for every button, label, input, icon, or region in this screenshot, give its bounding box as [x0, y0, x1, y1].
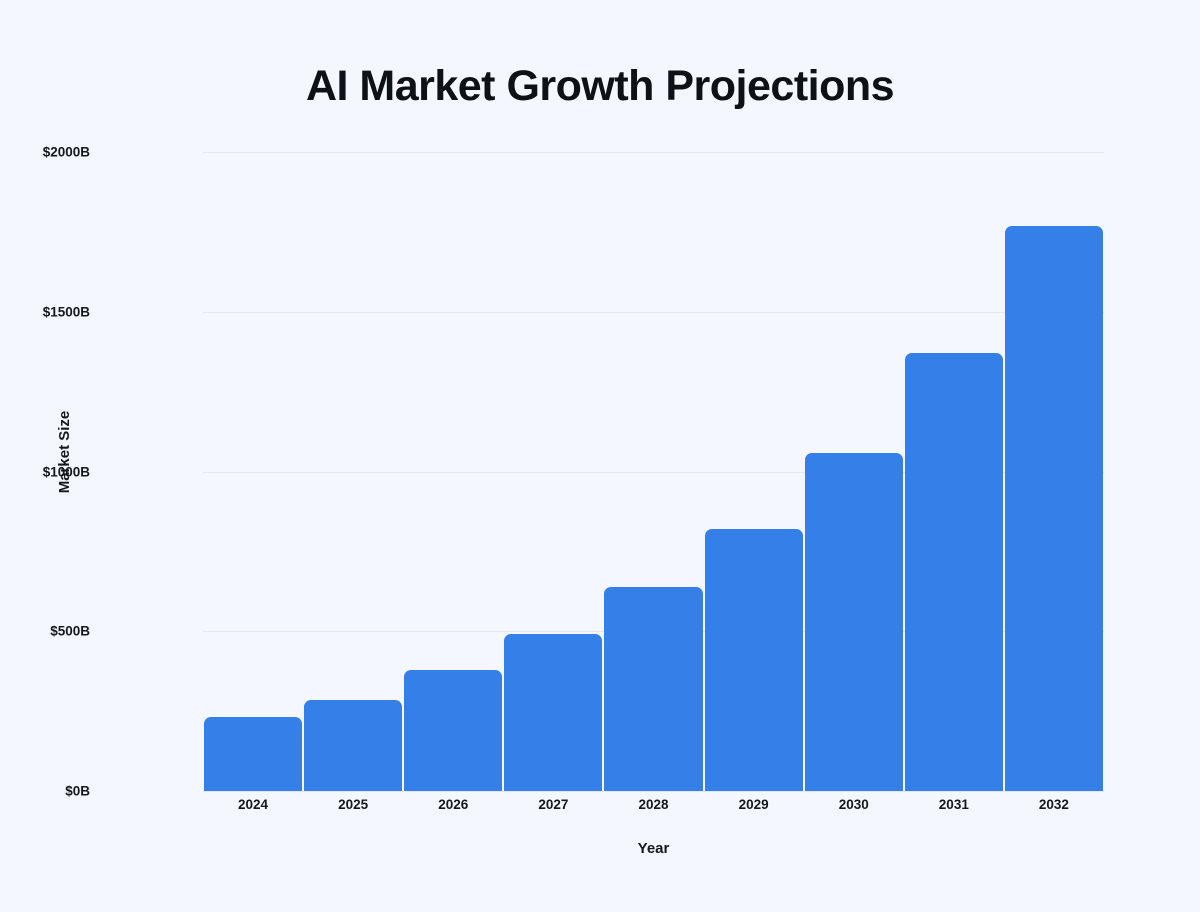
- bars-layer: 202420252026202720282029203020312032: [203, 152, 1104, 791]
- bar-group: 2025: [303, 152, 403, 791]
- x-axis-tick-label: 2031: [904, 797, 1004, 812]
- x-axis-tick-label: 2028: [603, 797, 703, 812]
- bar[interactable]: [905, 353, 1003, 791]
- bar[interactable]: [304, 700, 402, 791]
- bar-group: 2030: [804, 152, 904, 791]
- bar[interactable]: [504, 634, 602, 791]
- bar-group: 2029: [704, 152, 804, 791]
- bar[interactable]: [204, 717, 302, 791]
- bar-group: 2028: [603, 152, 703, 791]
- y-axis-tick-label: $500B: [0, 624, 90, 639]
- x-axis-tick-label: 2025: [303, 797, 403, 812]
- bar-group: 2024: [203, 152, 303, 791]
- bar[interactable]: [1005, 226, 1103, 792]
- bar-group: 2027: [503, 152, 603, 791]
- bar[interactable]: [604, 587, 702, 791]
- y-axis-tick-label: $1000B: [0, 464, 90, 479]
- x-axis-tick-label: 2032: [1004, 797, 1104, 812]
- chart-title: AI Market Growth Projections: [0, 62, 1200, 111]
- x-axis-tick-label: 2027: [503, 797, 603, 812]
- y-axis-tick-label: $1500B: [0, 304, 90, 319]
- bar-group: 2032: [1004, 152, 1104, 791]
- bar[interactable]: [805, 453, 903, 791]
- x-axis-tick-label: 2030: [804, 797, 904, 812]
- x-axis-tick-label: 2024: [203, 797, 303, 812]
- gridline: [203, 791, 1104, 792]
- bar-group: 2031: [904, 152, 1004, 791]
- y-axis-tick-label: $0B: [0, 784, 90, 799]
- x-axis-title: Year: [203, 840, 1104, 857]
- y-axis-tick-label: $2000B: [0, 145, 90, 160]
- x-axis-tick-label: 2026: [403, 797, 503, 812]
- bar[interactable]: [705, 529, 803, 791]
- x-axis-tick-label: 2029: [704, 797, 804, 812]
- bar-group: 2026: [403, 152, 503, 791]
- y-axis-title: Market Size: [56, 382, 76, 522]
- bar[interactable]: [404, 670, 502, 791]
- bar-chart: AI Market Growth Projections Market Size…: [0, 0, 1200, 912]
